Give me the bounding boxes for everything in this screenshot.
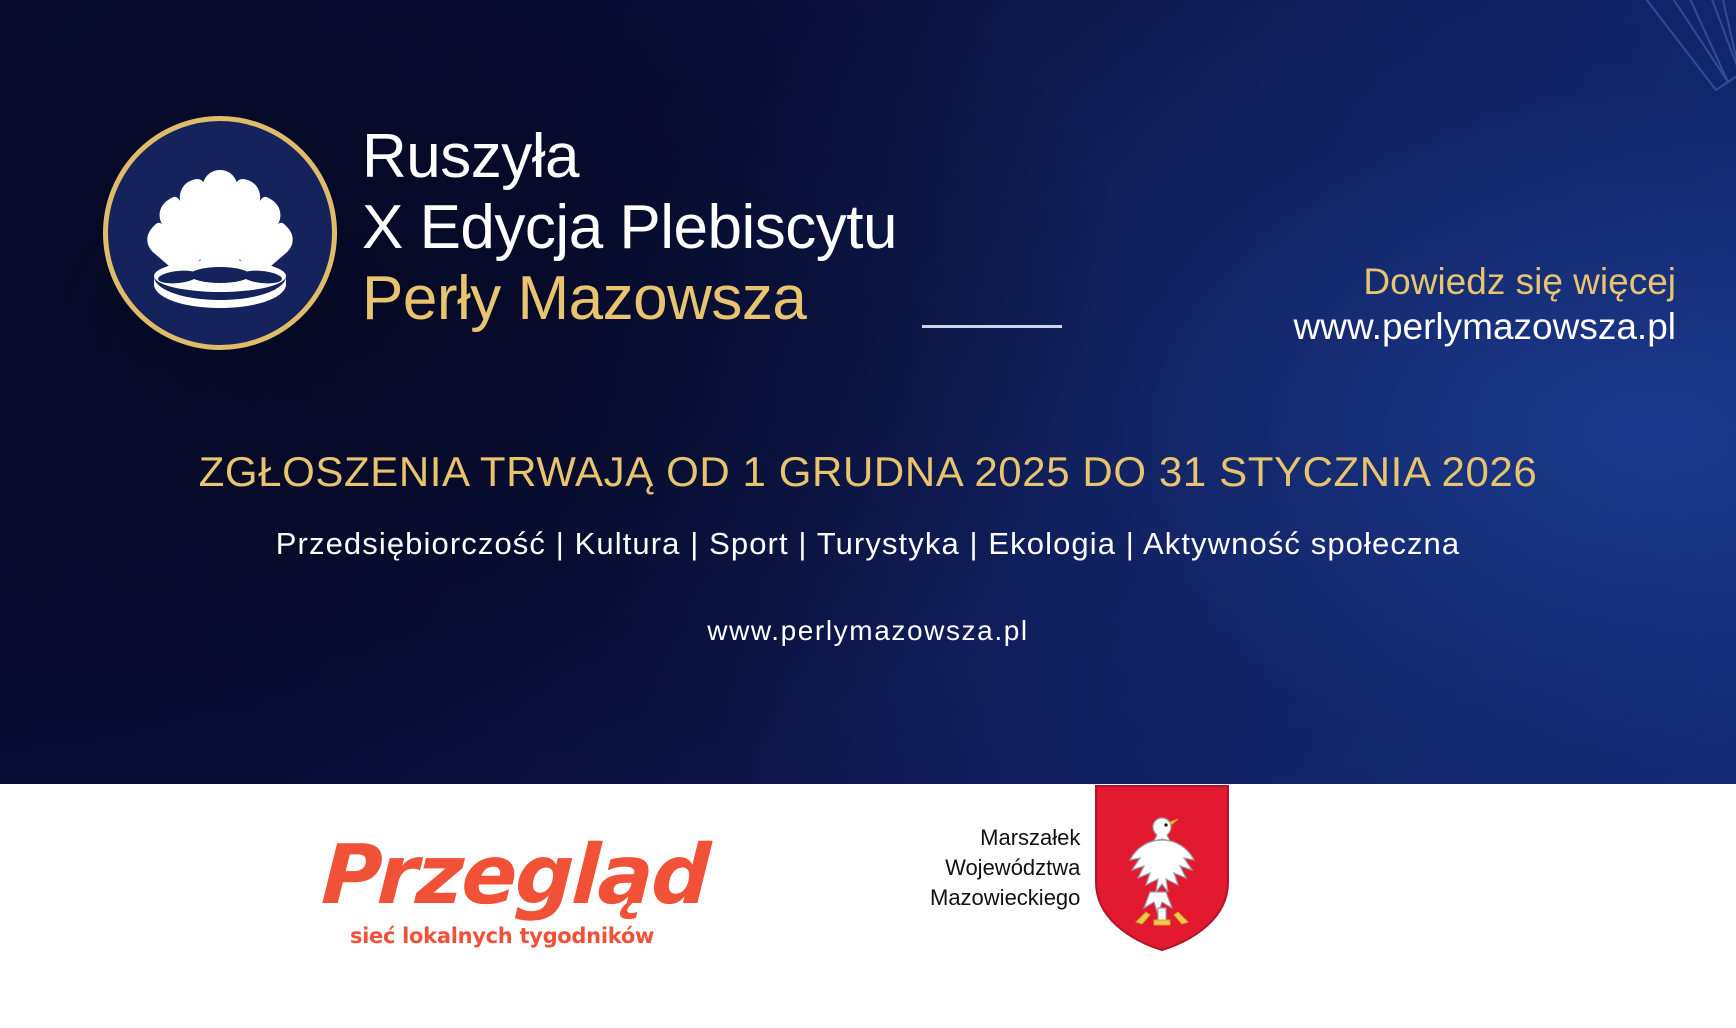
patron-name: Marszałek Województwa Mazowieckiego (930, 823, 1080, 913)
patron-block: PATRON HONOROWY: Marszałek Województwa M… (930, 784, 1230, 952)
headline-divider-rule (922, 325, 1062, 328)
headline: Ruszyła X Edycja Plebiscytu Perły Mazows… (362, 121, 1122, 334)
hero-vignette (0, 0, 1736, 784)
more-info-block: Dowiedz się więcej www.perlymazowsza.pl (1294, 259, 1676, 349)
center-website-url[interactable]: www.perlymazowsza.pl (0, 610, 1736, 652)
przeglad-tagline: sieć lokalnych tygodników (322, 924, 682, 948)
headline-line-3: Perły Mazowsza (362, 263, 1122, 334)
submission-dates: ZGŁOSZENIA TRWAJĄ OD 1 GRUDNA 2025 DO 31… (0, 444, 1736, 500)
more-info-label: Dowiedz się więcej (1294, 259, 1676, 304)
patron-name-line-2: Województwa (930, 853, 1080, 883)
patron-name-line-1: Marszałek (930, 823, 1080, 853)
headline-line-2: X Edycja Plebiscytu (362, 192, 1122, 263)
category-list: Przedsiębiorczość | Kultura | Sport | Tu… (0, 522, 1736, 566)
promo-banner: Ruszyła X Edycja Plebiscytu Perły Mazows… (0, 0, 1736, 1028)
perly-mazowsza-logo (103, 116, 337, 350)
headline-line-1: Ruszyła (362, 121, 1122, 192)
footer-section: Przegląd sieć lokalnych tygodników PATRO… (0, 784, 1736, 1028)
przeglad-wordmark: Przegląd (320, 834, 684, 918)
patron-name-line-3: Mazowieckiego (930, 883, 1080, 913)
more-info-url[interactable]: www.perlymazowsza.pl (1294, 304, 1676, 349)
mazovia-coat-of-arms-icon (1094, 784, 1230, 952)
pearl-shell-icon (140, 158, 300, 308)
hero-section: Ruszyła X Edycja Plebiscytu Perły Mazows… (0, 0, 1736, 784)
przeglad-logo[interactable]: Przegląd sieć lokalnych tygodników (322, 834, 682, 948)
